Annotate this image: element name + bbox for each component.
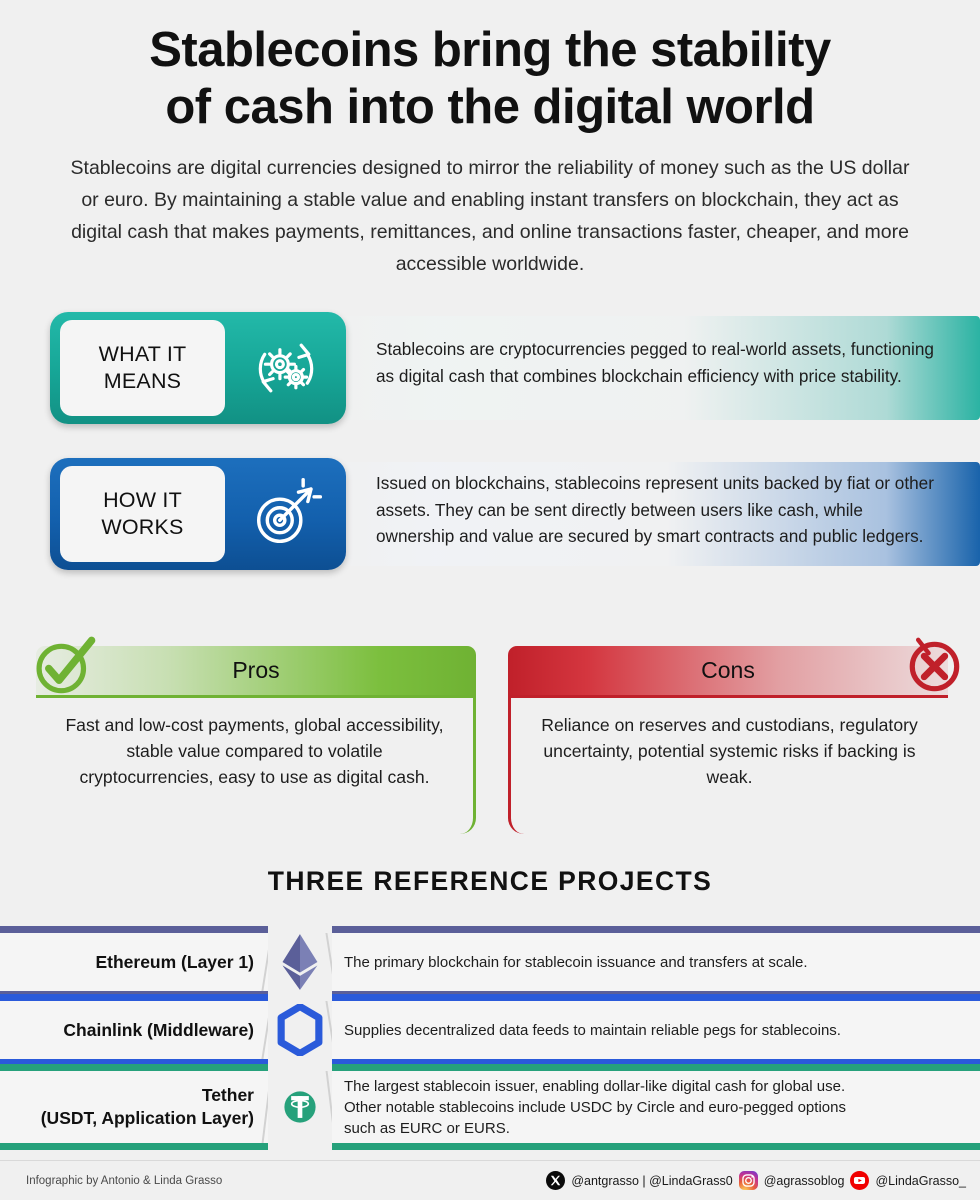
project-label-line1: Ethereum (Layer 1) (95, 951, 254, 974)
project-label-chainlink: Chainlink (Middleware) (0, 1001, 268, 1059)
section-title-three-reference-projects: THREE REFERENCE PROJECTS (0, 866, 980, 897)
badge-label-line2: MEANS (99, 368, 187, 395)
row-bar-top (0, 1064, 980, 1071)
project-label-tether: Tether (USDT, Application Layer) (0, 1071, 268, 1143)
badge-what-it-means: WHAT IT MEANS (50, 312, 346, 424)
project-label-line2: (USDT, Application Layer) (41, 1107, 254, 1130)
page-title-line2: of cash into the digital world (60, 79, 920, 136)
project-desc-line2: Other notable stablecoins include USDC b… (344, 1097, 846, 1118)
page-title-line1: Stablecoins bring the stability (60, 22, 920, 79)
x-twitter-icon[interactable] (546, 1171, 565, 1190)
project-label-line1: Chainlink (Middleware) (63, 1019, 254, 1042)
cons-text: Reliance on reserves and custodians, reg… (508, 698, 948, 834)
chainlink-logo-icon (268, 990, 332, 1070)
youtube-icon[interactable] (850, 1171, 869, 1190)
page-title: Stablecoins bring the stability of cash … (0, 0, 980, 136)
project-row-ethereum: Ethereum (Layer 1) The primary blockchai… (0, 926, 980, 998)
band-how-it-works: HOW IT WORKS Issued on blockchains, stab… (0, 452, 980, 576)
project-row-tether: Tether (USDT, Application Layer) The lar… (0, 1064, 980, 1150)
footer-bar: Infographic by Antonio & Linda Grasso @a… (0, 1160, 980, 1200)
infographic-page: Stablecoins bring the stability of cash … (0, 0, 980, 1200)
badge-label-line2: WORKS (101, 514, 183, 541)
footer-credit: Infographic by Antonio & Linda Grasso (26, 1175, 222, 1187)
project-desc-line1: Supplies decentralized data feeds to mai… (344, 1020, 841, 1041)
row-bar-top (0, 926, 980, 933)
cons-heading: Cons (701, 657, 755, 684)
pros-text: Fast and low-cost payments, global acces… (36, 698, 476, 834)
cons-panel: Cons Reliance on reserves and custodians… (508, 646, 948, 834)
project-desc-line3: such as EURC or EURS. (344, 1118, 846, 1139)
project-desc-line1: The primary blockchain for stablecoin is… (344, 952, 808, 973)
cons-header: Cons (508, 646, 948, 698)
badge-label-line1: WHAT IT (99, 341, 187, 368)
instagram-handle-label[interactable]: @agrassoblog (764, 1174, 845, 1188)
badge-label: HOW IT WORKS (60, 466, 225, 562)
project-desc-ethereum: The primary blockchain for stablecoin is… (332, 933, 980, 991)
badge-how-it-works: HOW IT WORKS (50, 458, 346, 570)
cross-circle-icon (896, 628, 970, 707)
check-circle-icon (28, 630, 102, 709)
project-label-line1: Tether (41, 1084, 254, 1107)
footer-social-handles: @antgrasso | @LindaGrass0 (546, 1171, 966, 1190)
pros-header: Pros (36, 646, 476, 698)
band-what-it-means: WHAT IT MEANS (0, 306, 980, 430)
instagram-icon[interactable] (739, 1171, 758, 1190)
project-desc-tether: The largest stablecoin issuer, enabling … (332, 1071, 980, 1143)
project-desc-line1: The largest stablecoin issuer, enabling … (344, 1076, 846, 1097)
target-arrow-icon (225, 475, 346, 553)
pros-panel: Pros Fast and low-cost payments, global … (36, 646, 476, 834)
gears-cycle-icon (225, 330, 346, 406)
band-description: Stablecoins are cryptocurrencies pegged … (376, 336, 936, 389)
tether-logo-icon (268, 1062, 332, 1152)
row-bar-top (0, 994, 980, 1001)
intro-paragraph: Stablecoins are digital currencies desig… (0, 136, 980, 280)
badge-label-line1: HOW IT (101, 487, 183, 514)
x-handles-label[interactable]: @antgrasso | @LindaGrass0 (571, 1174, 732, 1188)
youtube-handle-label[interactable]: @LindaGrasso_ (875, 1174, 966, 1188)
badge-label: WHAT IT MEANS (60, 320, 225, 416)
project-row-chainlink: Chainlink (Middleware) Supplies decentra… (0, 994, 980, 1066)
pros-heading: Pros (232, 657, 279, 684)
row-bar-bottom (0, 1143, 980, 1150)
project-desc-chainlink: Supplies decentralized data feeds to mai… (332, 1001, 980, 1059)
project-label-ethereum: Ethereum (Layer 1) (0, 933, 268, 991)
band-description: Issued on blockchains, stablecoins repre… (376, 470, 936, 550)
